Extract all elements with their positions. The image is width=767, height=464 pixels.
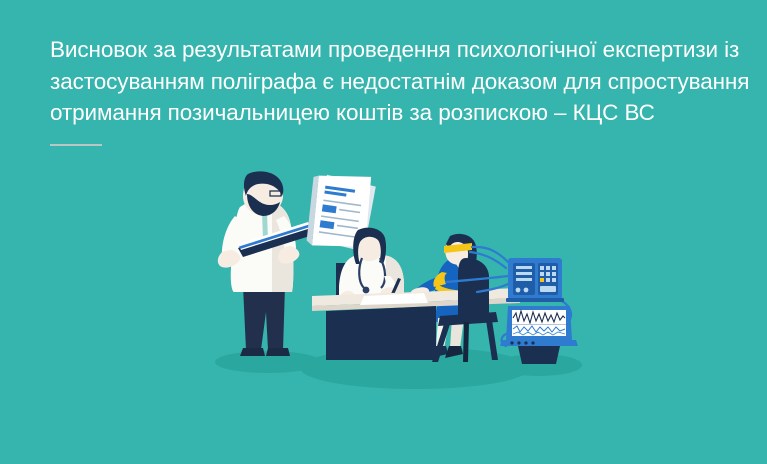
laptop-indicator-3 bbox=[524, 341, 527, 344]
laptop-indicator-1 bbox=[510, 341, 513, 344]
laptop-indicator-2 bbox=[517, 341, 520, 344]
polygraph-btn-r3c3 bbox=[552, 278, 556, 282]
polygraph-btn-r2c1 bbox=[540, 272, 544, 276]
desk-body bbox=[326, 306, 436, 360]
man-shoe-right bbox=[266, 348, 290, 356]
waveform-divider bbox=[512, 324, 566, 325]
polygraph-btn-r1c3 bbox=[552, 266, 556, 270]
polygraph-btn-r3c1 bbox=[540, 278, 544, 282]
headline-divider bbox=[50, 144, 102, 146]
polygraph-strip-3 bbox=[516, 278, 532, 281]
polygraph-base bbox=[506, 298, 564, 302]
polygraph-knob-2 bbox=[524, 288, 529, 293]
headline-line-2: застосуванням поліграфа є недостатнім до… bbox=[50, 66, 740, 98]
polygraph-btn-r3c2 bbox=[546, 278, 550, 282]
headline-line-3: отримання позичальницею коштів за розпис… bbox=[50, 97, 740, 129]
polygraph-btn-r2c3 bbox=[552, 272, 556, 276]
polygraph-strip-1 bbox=[516, 266, 532, 269]
man-shoe-left bbox=[240, 348, 265, 356]
headline: Висновок за результатами проведення псих… bbox=[50, 34, 740, 129]
polygraph-device bbox=[506, 258, 564, 302]
headline-line-1: Висновок за результатами проведення псих… bbox=[50, 34, 740, 66]
stethoscope-chestpiece bbox=[363, 287, 370, 294]
polygraph-strip-2 bbox=[516, 272, 532, 275]
polygraph-btn-r2c2 bbox=[546, 272, 550, 276]
chair-back bbox=[458, 258, 489, 320]
pedestal-stand bbox=[518, 346, 560, 364]
laptop-indicator-4 bbox=[531, 341, 534, 344]
article-banner: Висновок за результатами проведення псих… bbox=[0, 0, 767, 464]
chair-leg-mid bbox=[463, 322, 469, 362]
polygraph-slider bbox=[540, 286, 556, 292]
polygraph-knob-1 bbox=[516, 288, 521, 293]
polygraph-btn-r1c2 bbox=[546, 266, 550, 270]
polygraph-btn-r1c1 bbox=[540, 266, 544, 270]
